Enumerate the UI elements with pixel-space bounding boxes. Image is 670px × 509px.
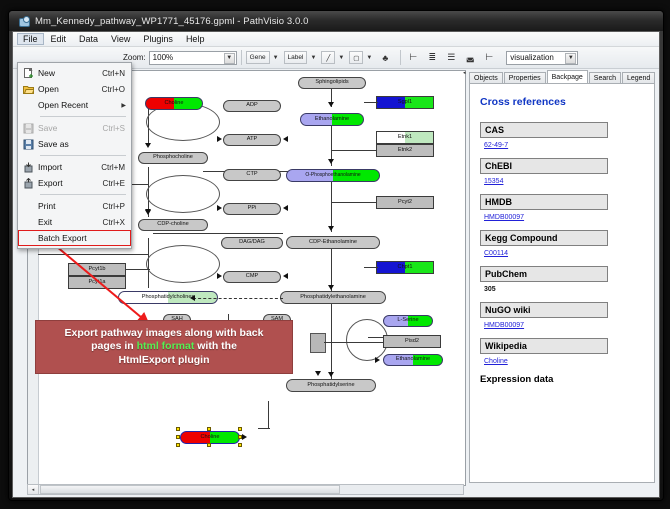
- xref-label-chebi: ChEBI: [480, 158, 608, 174]
- menubar: File Edit Data View Plugins Help: [13, 32, 659, 47]
- node-sphingolipids[interactable]: Sphingolipids: [298, 77, 366, 89]
- expression-data-heading: Expression data: [480, 374, 646, 385]
- toolbar-separator: [400, 50, 401, 65]
- node-atp[interactable]: ATP: [223, 134, 281, 146]
- selection-handle[interactable]: [176, 435, 180, 439]
- label-tool[interactable]: Label ▼: [284, 51, 320, 64]
- file-menu-item-open-recent[interactable]: Open Recent ▶: [18, 97, 131, 113]
- side-panel-tabs: ◂ Objects Properties Backpage Search Leg…: [469, 70, 655, 84]
- chevron-down-icon[interactable]: ▼: [224, 53, 235, 64]
- xref-value-wikipedia[interactable]: Choline: [484, 358, 646, 365]
- arrowhead-icon: [283, 136, 288, 142]
- xref-value-hmdb[interactable]: HMDB00097: [484, 214, 646, 221]
- menu-data[interactable]: Data: [73, 33, 104, 45]
- edge: [364, 267, 378, 268]
- folder-open-icon: [18, 81, 38, 97]
- arrowhead-icon: [242, 434, 247, 440]
- chevron-down-icon[interactable]: ▼: [270, 55, 282, 61]
- toolbar-separator: [241, 50, 242, 65]
- file-menu-item-exit[interactable]: Exit Ctrl+X: [18, 214, 131, 230]
- node-l-serine[interactable]: L-Serine: [383, 315, 433, 327]
- menu-view[interactable]: View: [105, 33, 136, 45]
- xref-label-pubchem: PubChem: [480, 266, 608, 282]
- selection-handle[interactable]: [176, 443, 180, 447]
- xref-label-kegg-compound: Kegg Compound: [480, 230, 608, 246]
- file-menu-label: Open: [38, 84, 102, 94]
- gene-chpt1[interactable]: Chpt1: [376, 261, 434, 274]
- align-left-icon[interactable]: ⊢: [405, 50, 421, 66]
- node-phosphocholine[interactable]: Phosphocholine: [138, 152, 208, 164]
- conversion-loop: [346, 319, 388, 361]
- arrowhead-icon: [328, 159, 334, 164]
- xref-label-hmdb: HMDB: [480, 194, 608, 210]
- chevron-right-icon: ▶: [121, 102, 126, 109]
- pathvisio-app-icon: [18, 16, 29, 27]
- chevron-down-icon[interactable]: ▼: [307, 55, 319, 61]
- gene-pcyt1a[interactable]: Pcyt1a: [68, 276, 126, 289]
- edge-dashed: [193, 298, 283, 299]
- node-phosphatidylethanolamine[interactable]: Phosphatidylethanolamine: [280, 291, 386, 304]
- arrowhead-icon: [145, 143, 151, 148]
- menu-separator: [40, 155, 126, 156]
- conversion-loop: [146, 175, 220, 213]
- selection-handle[interactable]: [207, 443, 211, 447]
- canvas-horizontal-scrollbar[interactable]: ◂: [27, 484, 464, 495]
- arrowhead-icon: [328, 372, 334, 377]
- save-as-icon: [18, 136, 38, 152]
- import-icon: [18, 159, 38, 175]
- node-ppi[interactable]: PPi: [223, 203, 281, 215]
- process-node[interactable]: [310, 333, 326, 353]
- annotation-line2-a: pages in: [91, 340, 137, 352]
- gene-etnk1[interactable]: Etnk1: [376, 131, 434, 144]
- file-menu-label: Exit: [38, 217, 103, 227]
- file-menu-accel: Ctrl+X: [103, 218, 131, 227]
- file-menu-accel: Ctrl+E: [103, 179, 131, 188]
- xref-label-nugo-wiki: NuGO wiki: [480, 302, 608, 318]
- anchor-icon[interactable]: ♣: [377, 50, 393, 66]
- xref-value-cas[interactable]: 62-49-7: [484, 142, 646, 149]
- node-choline[interactable]: Choline: [145, 97, 203, 110]
- menu-separator: [40, 116, 126, 117]
- file-menu-label: Save as: [38, 139, 125, 149]
- arrowhead-icon: [328, 285, 334, 290]
- file-menu-label: Save: [38, 123, 103, 133]
- export-icon: [18, 175, 38, 191]
- file-menu-label: Export: [38, 178, 103, 188]
- annotation-line1: Export pathway images along with back: [65, 327, 264, 339]
- xref-label-wikipedia: Wikipedia: [480, 338, 608, 354]
- cross-references-heading: Cross references: [480, 96, 646, 108]
- selection-handle[interactable]: [207, 427, 211, 431]
- file-menu-accel: Ctrl+M: [101, 163, 131, 172]
- arrowhead-icon: [328, 102, 334, 107]
- selection-handle[interactable]: [238, 427, 242, 431]
- edge: [331, 202, 377, 203]
- annotation-line3: HtmlExport plugin: [119, 354, 210, 366]
- zoom-value: 100%: [153, 53, 173, 62]
- edge: [324, 342, 384, 343]
- arrowhead-icon: [190, 295, 195, 301]
- node-cdp-choline[interactable]: CDP-choline: [138, 219, 208, 231]
- chevron-down-icon[interactable]: ▼: [363, 55, 375, 61]
- visualization-value: visualization: [510, 53, 554, 62]
- conversion-loop: [146, 245, 220, 283]
- tab-scroll-icon[interactable]: ◂: [463, 70, 469, 84]
- file-menu-item-print[interactable]: Print Ctrl+P: [18, 198, 131, 214]
- arrowhead-icon: [328, 226, 334, 231]
- application-client-area: File Edit Data View Plugins Help Zoom: 1…: [12, 31, 660, 498]
- file-menu-item-save: Save Ctrl+S: [18, 120, 131, 136]
- group-icon[interactable]: ⊢: [481, 50, 497, 66]
- align-middle-icon[interactable]: ☰: [443, 50, 459, 66]
- file-menu-item-batch-export[interactable]: Batch Export: [18, 230, 131, 246]
- node-ethanolamine-2[interactable]: Ethanolamine: [383, 354, 443, 366]
- file-menu-label: Import: [38, 162, 101, 172]
- arrowhead-icon: [217, 136, 222, 142]
- file-menu-item-open[interactable]: Open Ctrl+O: [18, 81, 131, 97]
- edge: [153, 233, 283, 234]
- visualization-combobox[interactable]: visualization ▼: [506, 51, 578, 65]
- node-dag[interactable]: DAG/DAG: [221, 237, 283, 249]
- file-menu-label: Open Recent: [38, 100, 131, 110]
- xref-value-chebi[interactable]: 15354: [484, 178, 646, 185]
- node-cmp[interactable]: CMP: [223, 271, 281, 283]
- gene-product-tool[interactable]: Gene ▼: [246, 51, 282, 64]
- line-tool[interactable]: ╱ ▼: [321, 51, 347, 64]
- node-o-phosphoethanolamine[interactable]: O-Phosphoethanolamine: [286, 169, 380, 182]
- arrowhead-icon: [375, 357, 380, 363]
- node-adp[interactable]: ADP: [223, 100, 281, 112]
- side-panel: ◂ Objects Properties Backpage Search Leg…: [469, 70, 655, 495]
- window-title: Mm_Kennedy_pathway_WP1771_45176.gpml - P…: [35, 16, 309, 27]
- arrowhead-icon: [315, 371, 321, 376]
- screenshot-root: Mm_Kennedy_pathway_WP1771_45176.gpml - P…: [0, 0, 670, 509]
- file-menu-accel: Ctrl+P: [103, 202, 131, 211]
- edge: [38, 254, 148, 255]
- arrowhead-icon: [217, 205, 222, 211]
- chevron-down-icon[interactable]: ▼: [565, 53, 576, 64]
- edge: [331, 150, 377, 151]
- annotation-highlight: html format: [137, 340, 195, 352]
- node-cdp-ethanolamine[interactable]: CDP-Ethanolamine: [286, 236, 380, 249]
- xref-value-nugo-wiki[interactable]: HMDB00097: [484, 322, 646, 329]
- edge: [331, 182, 332, 232]
- xref-value-kegg-compound[interactable]: C00114: [484, 250, 646, 257]
- selection-handle[interactable]: [176, 427, 180, 431]
- annotation-callout: Export pathway images along with back pa…: [35, 320, 293, 374]
- gene-pisd2[interactable]: Pisd2: [383, 335, 441, 348]
- file-menu-item-import[interactable]: Import Ctrl+M: [18, 159, 131, 175]
- file-menu-label: Print: [38, 201, 103, 211]
- zoom-label: Zoom:: [123, 53, 146, 62]
- file-menu-item-save-as[interactable]: Save as: [18, 136, 131, 152]
- menu-help[interactable]: Help: [180, 33, 211, 45]
- arrowhead-icon: [283, 205, 288, 211]
- gene-pcyt1b[interactable]: Pcyt1b: [68, 263, 126, 276]
- xref-value-pubchem: 305: [484, 286, 646, 293]
- gene-product-icon: Gene: [246, 51, 270, 64]
- node-ctp[interactable]: CTP: [223, 169, 281, 181]
- arrowhead-icon: [283, 273, 288, 279]
- arrowhead-icon: [145, 209, 151, 214]
- chevron-down-icon[interactable]: ▼: [335, 55, 347, 61]
- annotation-line2-b: with the: [194, 340, 237, 352]
- file-menu-label: Batch Export: [38, 233, 131, 243]
- line-icon: ╱: [321, 51, 335, 64]
- file-menu-accel: Ctrl+O: [102, 85, 131, 94]
- zoom-combobox[interactable]: 100% ▼: [149, 51, 237, 65]
- file-menu-dropdown[interactable]: New Ctrl+N Open Ctrl+O Open Recent ▶: [17, 62, 132, 249]
- menu-separator: [40, 194, 126, 195]
- scroll-left-icon[interactable]: ◂: [28, 485, 39, 494]
- align-center-icon[interactable]: ≣: [424, 50, 440, 66]
- new-document-icon: [18, 65, 38, 81]
- scrollbar-thumb[interactable]: [40, 485, 340, 494]
- edge: [364, 102, 378, 103]
- save-disk-icon: [18, 120, 38, 136]
- application-window: Mm_Kennedy_pathway_WP1771_45176.gpml - P…: [8, 10, 664, 501]
- file-menu-item-new[interactable]: New Ctrl+N: [18, 65, 131, 81]
- xref-label-cas: CAS: [480, 122, 608, 138]
- selection-handle[interactable]: [238, 443, 242, 447]
- node-phosphatidylserine[interactable]: Phosphatidylserine: [286, 379, 376, 392]
- menu-file[interactable]: File: [17, 33, 44, 45]
- file-menu-accel: Ctrl+S: [103, 124, 131, 133]
- menu-edit[interactable]: Edit: [45, 33, 73, 45]
- arrowhead-icon: [217, 273, 222, 279]
- tab-backpage[interactable]: Backpage: [547, 70, 588, 84]
- edge: [258, 428, 270, 429]
- shape-icon: ▢: [349, 51, 363, 64]
- edge: [268, 401, 269, 429]
- gene-pcyt2[interactable]: Pcyt2: [376, 196, 434, 209]
- file-menu-label: New: [38, 68, 102, 78]
- menu-plugins[interactable]: Plugins: [137, 33, 179, 45]
- stack-icon[interactable]: ◛: [462, 50, 478, 66]
- file-menu-item-export[interactable]: Export Ctrl+E: [18, 175, 131, 191]
- node-ethanolamine[interactable]: Ethanolamine: [300, 113, 364, 126]
- window-titlebar: Mm_Kennedy_pathway_WP1771_45176.gpml - P…: [9, 11, 663, 31]
- annotation-text: Export pathway images along with back pa…: [65, 327, 264, 366]
- label-icon: Label: [284, 51, 308, 64]
- file-menu-accel: Ctrl+N: [102, 69, 131, 78]
- gene-etnk2[interactable]: Etnk2: [376, 144, 434, 157]
- shape-tool[interactable]: ▢ ▼: [349, 51, 375, 64]
- gene-sgpl1[interactable]: Sgpl1: [376, 96, 434, 109]
- edge: [126, 269, 150, 270]
- backpage-content: Cross references CAS 62-49-7 ChEBI 15354…: [469, 83, 655, 483]
